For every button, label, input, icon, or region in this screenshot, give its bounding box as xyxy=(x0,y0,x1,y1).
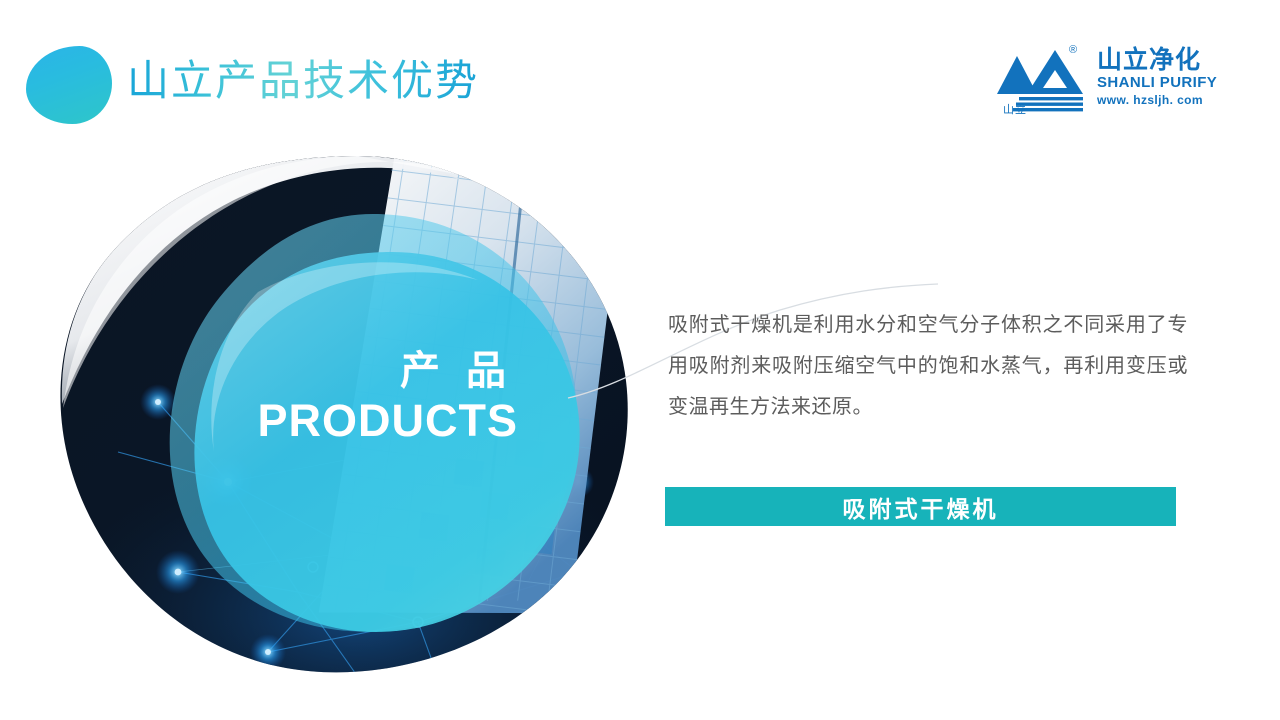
logo-mark-caption: 山立 xyxy=(1003,105,1027,116)
logo-name-en: SHANLI PURIFY xyxy=(1097,74,1225,93)
hero-svg xyxy=(58,152,633,677)
blob-icon xyxy=(26,46,112,124)
logo-name-cn: 山立净化 xyxy=(1097,48,1225,74)
product-name-banner[interactable]: 吸附式干燥机 xyxy=(665,487,1176,526)
product-description: 吸附式干燥机是利用水分和空气分子体积之不同采用了专用吸附剂来吸附压缩空气中的饱和… xyxy=(668,305,1188,428)
logo-wordmark: 山立净化 SHANLI PURIFY www. hzsljh. com xyxy=(1097,48,1225,108)
company-logo: ® 山立 山立净化 SHANLI PURIFY www. hzsljh. com xyxy=(997,40,1222,118)
logo-website-url: www. hzsljh. com xyxy=(1097,93,1225,108)
product-name-banner-label: 吸附式干燥机 xyxy=(843,490,999,524)
page-title: 山立产品技术优势 xyxy=(127,58,479,108)
slide-root: 山立产品技术优势 ® 山立 山立净化 SHANLI PURIFY www. hz… xyxy=(0,0,1280,720)
registered-trademark-icon: ® xyxy=(1069,45,1077,56)
product-hero-graphic: 产 品 PRODUCTS xyxy=(58,152,633,677)
